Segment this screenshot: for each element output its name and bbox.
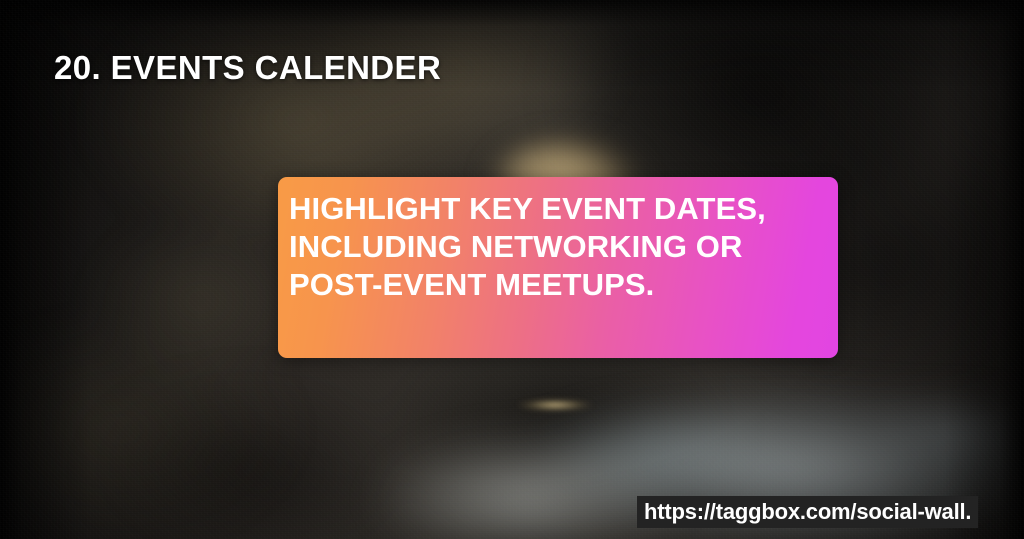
caption-card: HIGHLIGHT KEY EVENT DATES, INCLUDING NET… xyxy=(278,177,838,358)
url-watermark: https://taggbox.com/social-wall. xyxy=(637,496,978,528)
caption-line-2: INCLUDING NETWORKING OR xyxy=(289,228,822,266)
caption-line-3: POST-EVENT MEETUPS. xyxy=(289,266,822,304)
caption-line-1: HIGHLIGHT KEY EVENT DATES, xyxy=(289,190,822,228)
slide-headline: 20. EVENTS CALENDER xyxy=(54,50,441,87)
caption-text-block: HIGHLIGHT KEY EVENT DATES, INCLUDING NET… xyxy=(289,190,822,304)
promo-slide: 20. EVENTS CALENDER HIGHLIGHT KEY EVENT … xyxy=(0,0,1024,539)
